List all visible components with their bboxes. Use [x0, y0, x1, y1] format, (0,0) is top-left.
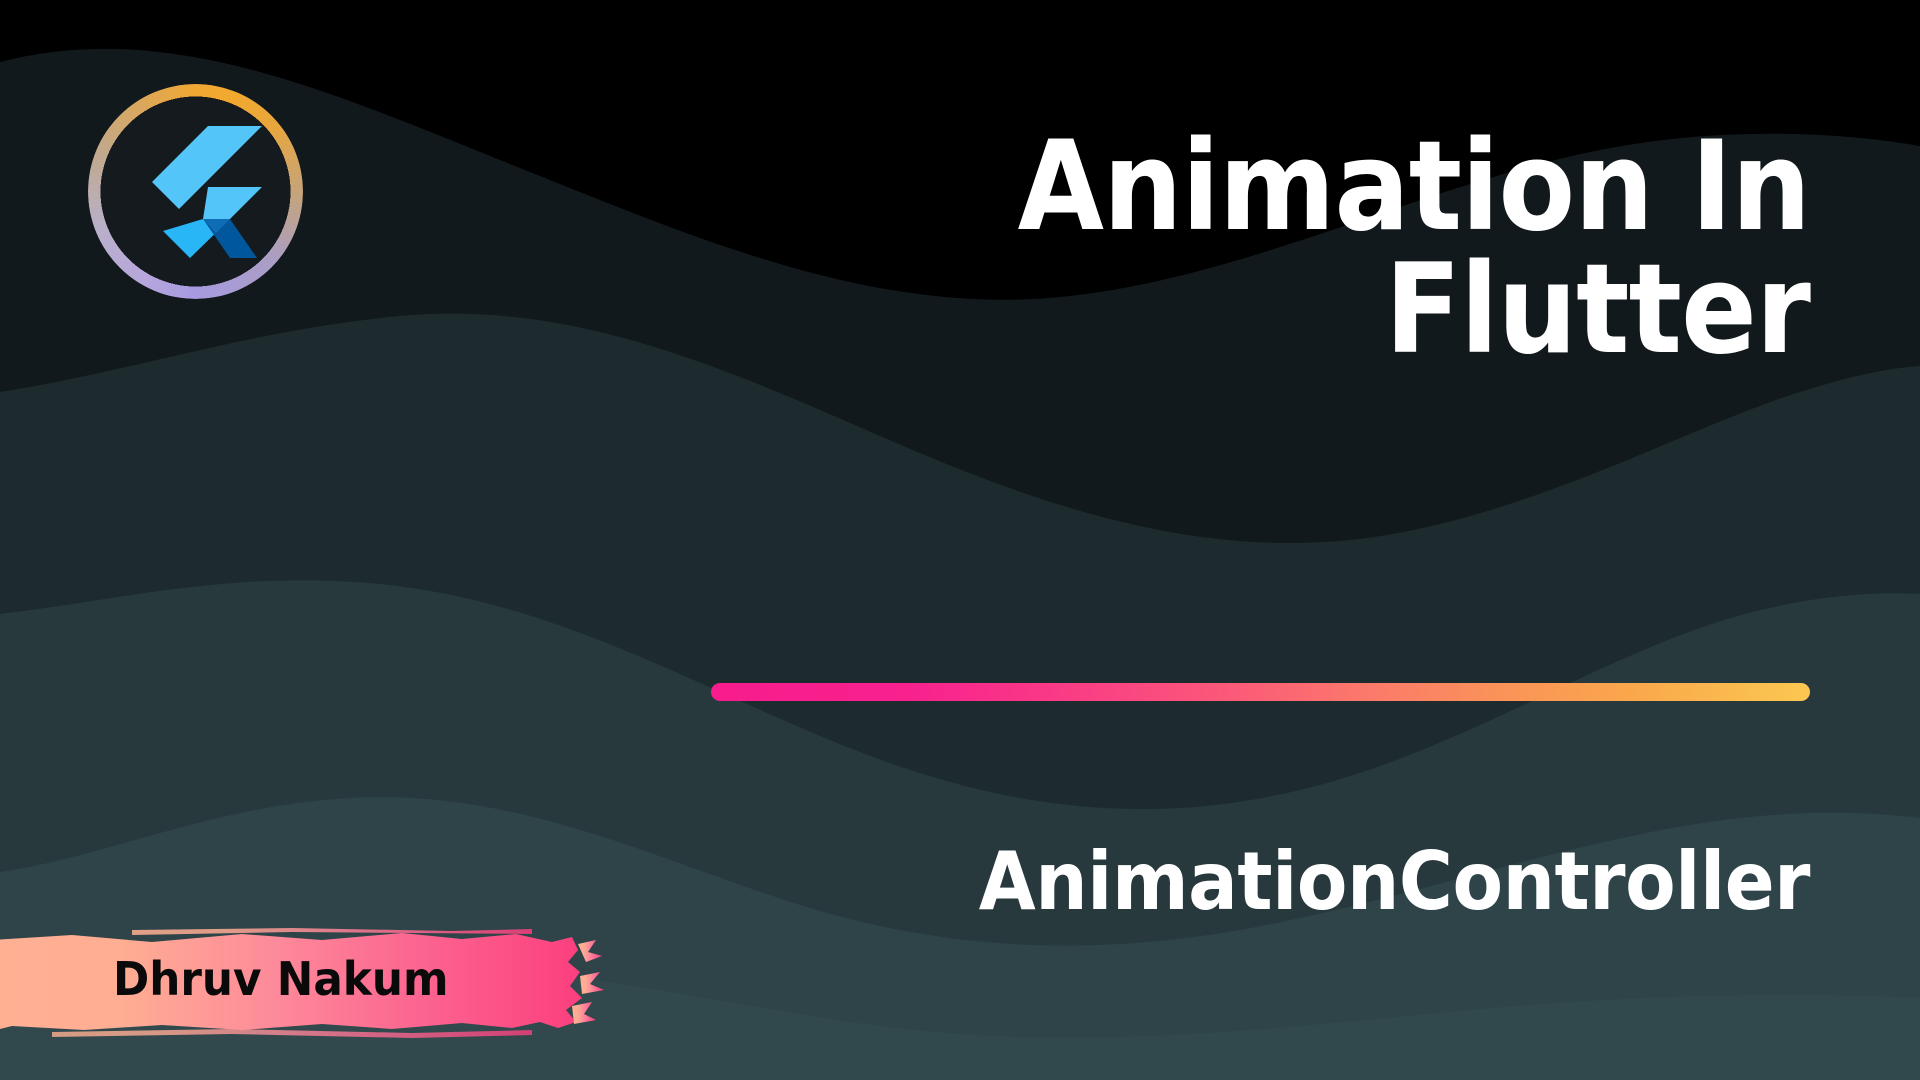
- flutter-logo: [88, 84, 303, 299]
- author-name: Dhruv Nakum: [113, 952, 449, 1006]
- page-title: Animation In Flutter: [856, 126, 1810, 372]
- flutter-logo-icon: [132, 124, 262, 260]
- page-subtitle: AnimationController: [614, 842, 1810, 922]
- thumbnail-canvas: Animation In Flutter AnimationController…: [0, 0, 1920, 1080]
- gradient-divider: [711, 683, 1810, 701]
